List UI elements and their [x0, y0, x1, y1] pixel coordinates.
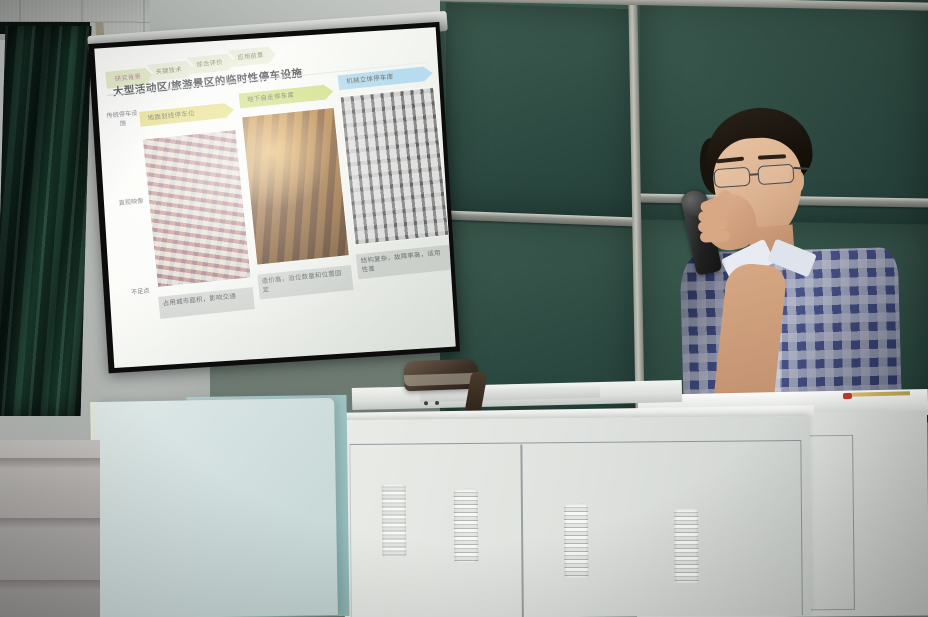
mechanical-stacker-photo: [341, 88, 448, 245]
metal-cabinet: [343, 416, 811, 617]
board-panel-front: [94, 398, 338, 617]
column-note-underground-garage: 造价高，泊位数量和位置固定: [257, 265, 354, 299]
column-header-surface-parking: 地面划线停车位: [139, 102, 235, 127]
platform-steps: [0, 440, 100, 617]
curtain-folds: [0, 26, 91, 416]
desk-fasteners: [424, 392, 446, 411]
finger: [700, 230, 731, 243]
column-header-underground-garage: 地下自走停车库: [238, 84, 334, 109]
column-photo-surface-parking: [142, 129, 252, 288]
row-label-traditional-facilities: 传统停车设施: [105, 109, 141, 131]
presenter: [662, 108, 910, 428]
column-note-surface-parking: 占用城市面积，影响交通: [158, 287, 254, 319]
glasses-temple: [794, 167, 820, 171]
row-label-drawbacks: 不足点: [123, 286, 158, 299]
red-object-on-desk: [843, 393, 852, 399]
comparison-column: 机械立体停车库 结构复杂，故障率高，适用性差: [338, 66, 456, 322]
cabinet-vent-louver: [674, 509, 699, 583]
column-photo-mechanical-garage: [340, 86, 450, 245]
cabinet-vent-louver: [454, 489, 479, 563]
presentation-slide: 研究背景 关键技术 综合评价 应用前景 大型活动区/旅游景区的临时性停车设施 传…: [94, 27, 455, 368]
column-photo-underground-garage: [241, 107, 351, 266]
bag-flap: [404, 373, 478, 387]
nav-tab-application-prospect[interactable]: 应用前景: [228, 46, 277, 68]
cabinet-vent-louver: [382, 483, 407, 557]
projector-screen: 研究背景 关键技术 综合评价 应用前景 大型活动区/旅游景区的临时性停车设施 传…: [94, 27, 455, 368]
underground-garage-photo: [242, 108, 349, 265]
leather-bag[interactable]: [403, 359, 478, 392]
nav-tab-comprehensive-evaluation[interactable]: 综合评价: [187, 53, 236, 75]
row-label-visual-image: 直观映像: [114, 196, 149, 209]
blackboard-panel: [446, 3, 636, 222]
step-edge: [0, 518, 100, 528]
cabinet-vent-louver: [564, 504, 589, 578]
lens-left: [713, 167, 750, 188]
step-edge: [0, 458, 100, 468]
column-note-mechanical-garage: 结构复杂，故障率高，适用性差: [356, 245, 453, 279]
projector-screen-frame: 研究背景 关键技术 综合评价 应用前景 大型活动区/旅游景区的临时性停车设施 传…: [88, 22, 460, 373]
green-curtain: [0, 26, 91, 416]
lens-right: [757, 164, 794, 185]
lecture-hall-scene: 研究背景 关键技术 综合评价 应用前景 大型活动区/旅游景区的临时性停车设施 传…: [0, 0, 928, 617]
surface-parking-lot-photo: [143, 130, 250, 287]
step-edge: [0, 580, 100, 590]
comparison-column: 地下自走停车库 造价高，泊位数量和位置固定: [238, 76, 358, 332]
slide-comparison-columns: 地面划线停车位 占用城市面积，影响交通 地下自走停车库 造价高，泊位数量和位置固…: [137, 66, 455, 343]
